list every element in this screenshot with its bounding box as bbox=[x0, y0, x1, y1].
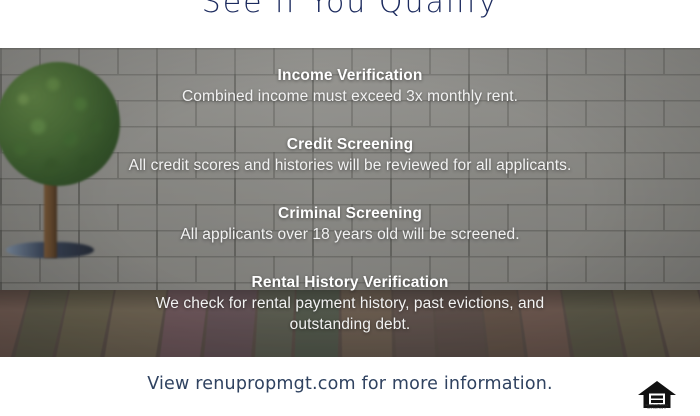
equal-housing-opportunity-caption: EQUAL HOUSING OPPORTUNITY bbox=[636, 404, 678, 410]
qualification-heading: Criminal Screening bbox=[0, 204, 700, 224]
qualification-heading: Credit Screening bbox=[0, 135, 700, 155]
qualification-item-criminal: Criminal Screening All applicants over 1… bbox=[0, 204, 700, 245]
qualification-body: We check for rental payment history, pas… bbox=[0, 293, 700, 335]
qualification-body: All applicants over 18 years old will be… bbox=[0, 224, 700, 245]
qualification-item-rental-history: Rental History Verification We check for… bbox=[0, 273, 700, 335]
qualification-heading: Income Verification bbox=[0, 66, 700, 86]
page-title: See if You Qualify bbox=[0, 0, 700, 20]
qualification-heading: Rental History Verification bbox=[0, 273, 700, 293]
title-band: See if You Qualify bbox=[0, 0, 700, 48]
qualification-item-credit: Credit Screening All credit scores and h… bbox=[0, 135, 700, 176]
qualifications-list: Income Verification Combined income must… bbox=[0, 48, 700, 357]
qualification-body: Combined income must exceed 3x monthly r… bbox=[0, 86, 700, 107]
qualification-body: All credit scores and histories will be … bbox=[0, 155, 700, 176]
footer: View renupropmgt.com for more informatio… bbox=[0, 357, 700, 415]
footer-website-text[interactable]: View renupropmgt.com for more informatio… bbox=[0, 374, 700, 394]
qualification-item-income: Income Verification Combined income must… bbox=[0, 66, 700, 107]
hero-image: Income Verification Combined income must… bbox=[0, 48, 700, 357]
